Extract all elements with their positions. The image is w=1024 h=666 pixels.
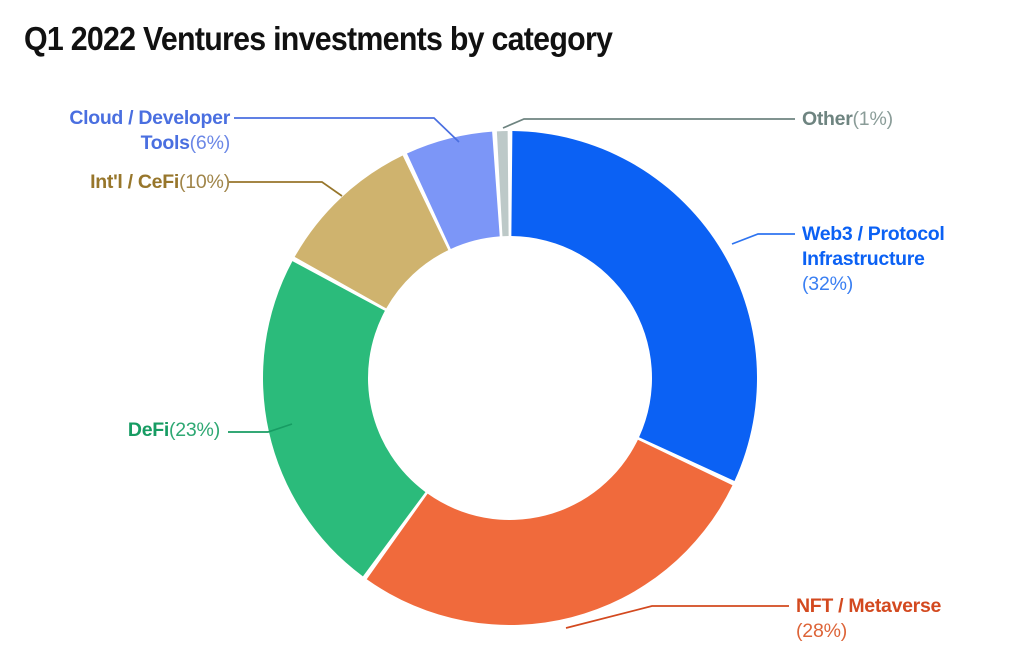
callout-web3-protocol-infrastructure[interactable]: Web3 / Protocol Infrastructure (32%) — [802, 222, 1017, 297]
leader-line-intl — [229, 182, 342, 196]
slice-nft-metaverse[interactable] — [367, 440, 733, 625]
callout-nft-label: NFT / Metaverse — [796, 595, 941, 617]
donut-slices — [263, 131, 757, 625]
slice-other[interactable] — [497, 131, 509, 236]
callout-cloud-label-line2: Tools — [141, 132, 190, 154]
donut-chart-figure: Q1 2022 Ventures investments by category — [0, 0, 1024, 666]
callout-defi-label: DeFi — [128, 419, 169, 441]
callout-other-percent: (1%) — [853, 108, 893, 130]
callout-cloud-developer-tools[interactable]: Cloud / Developer Tools(6%) — [8, 106, 230, 156]
leader-line-other — [503, 119, 795, 128]
donut-chart-svg — [0, 0, 1024, 666]
callout-defi-percent: (23%) — [169, 419, 220, 441]
slice-defi[interactable] — [263, 261, 425, 576]
slice-web3-protocol-infrastructure[interactable] — [511, 131, 757, 481]
callout-intl-label: Int'l / CeFi — [90, 171, 179, 193]
callout-cloud-percent: (6%) — [190, 132, 230, 154]
callout-web3-percent: (32%) — [802, 273, 853, 295]
callout-intl-percent: (10%) — [179, 171, 230, 193]
callout-nft-metaverse[interactable]: NFT / Metaverse (28%) — [796, 594, 1018, 644]
leader-line-nft — [566, 606, 789, 628]
callout-intl-cefi[interactable]: Int'l / CeFi(10%) — [8, 170, 230, 195]
callout-defi[interactable]: DeFi(23%) — [8, 418, 220, 443]
callout-other[interactable]: Other(1%) — [802, 107, 1017, 132]
callout-web3-label-line1: Web3 / Protocol — [802, 223, 945, 245]
leader-line-web3 — [732, 234, 795, 244]
leader-line-cloud — [234, 118, 459, 142]
callout-cloud-label-line1: Cloud / Developer — [69, 107, 230, 129]
callout-web3-label-line2: Infrastructure — [802, 248, 925, 270]
callout-nft-percent: (28%) — [796, 620, 847, 642]
callout-other-label: Other — [802, 108, 853, 130]
